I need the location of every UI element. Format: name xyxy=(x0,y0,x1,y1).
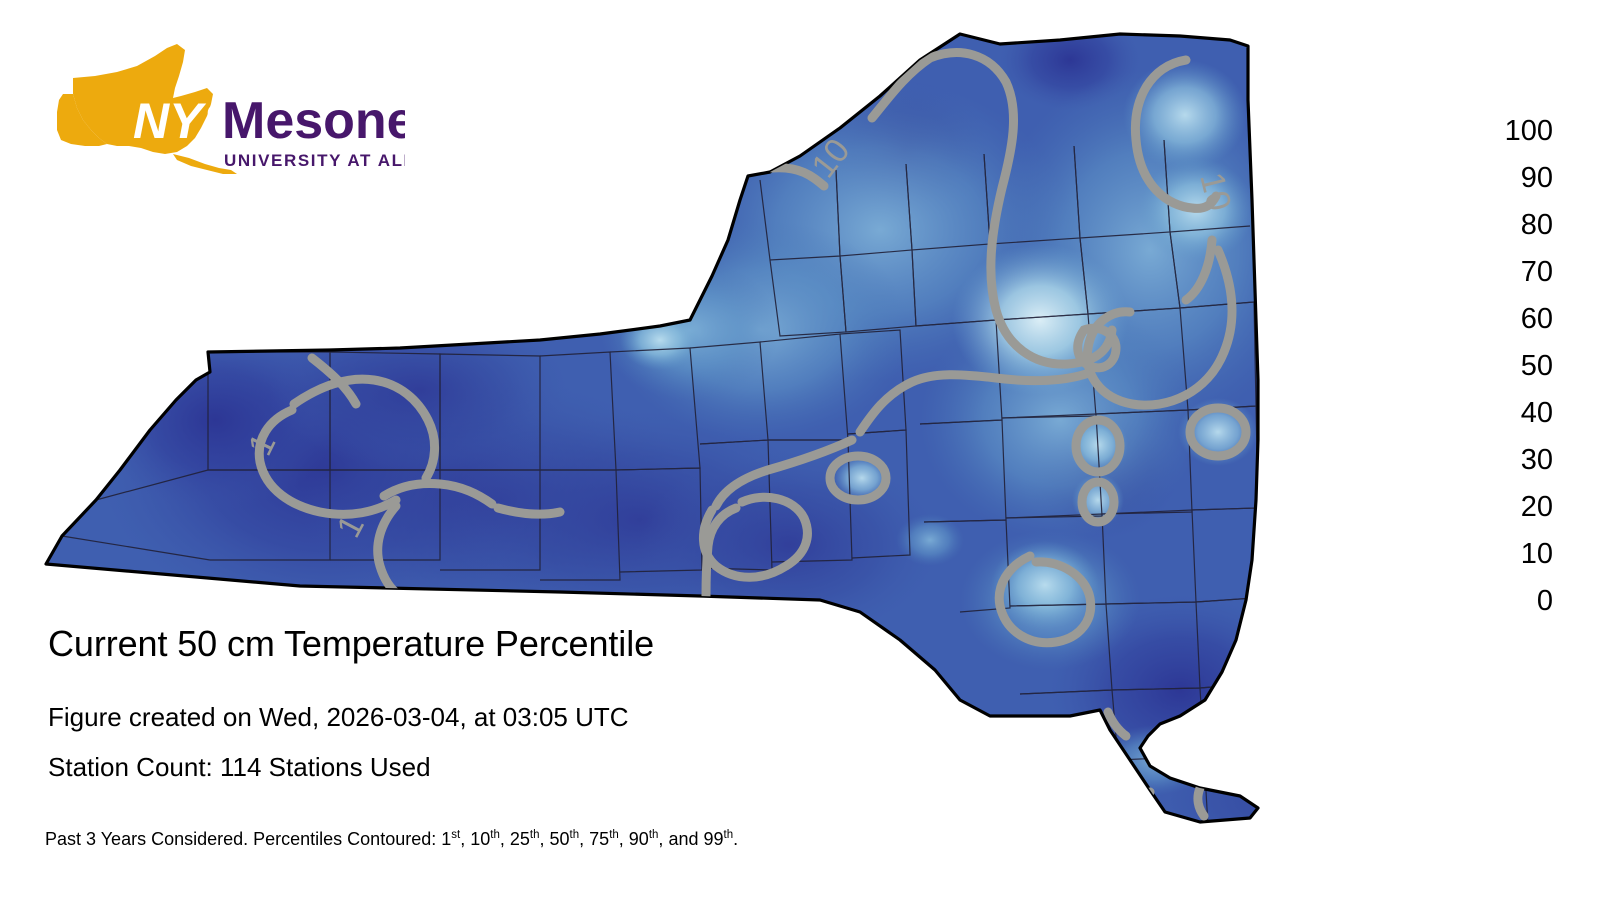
colorbar-tick-60: 60 xyxy=(1435,305,1553,334)
colorbar-tick-0: 0 xyxy=(1435,587,1553,616)
contour-footnote: Past 3 Years Considered. Percentiles Con… xyxy=(45,829,738,850)
colorbar-tick-10: 10 xyxy=(1435,540,1553,569)
colorbar-container: 100 90 80 70 60 50 40 30 20 10 0 xyxy=(1335,131,1575,609)
colorbar-tick-100: 100 xyxy=(1435,117,1553,146)
page-title: Current 50 cm Temperature Percentile xyxy=(48,623,654,665)
colorbar-tick-70: 70 xyxy=(1435,258,1553,287)
logo-nys-text: NYS xyxy=(133,93,236,149)
percentile-colorbar xyxy=(1335,131,1423,603)
figure-created-timestamp: Figure created on Wed, 2026-03-04, at 03… xyxy=(48,702,629,733)
colorbar-tick-40: 40 xyxy=(1435,399,1553,428)
colorbar-tick-80: 80 xyxy=(1435,211,1553,240)
logo-mesonet-text: Mesonet xyxy=(222,92,405,150)
colorbar-tick-30: 30 xyxy=(1435,446,1553,475)
colorbar-tick-labels: 100 90 80 70 60 50 40 30 20 10 0 xyxy=(1435,131,1565,603)
colorbar-tick-20: 20 xyxy=(1435,493,1553,522)
station-count-label: Station Count: 114 Stations Used xyxy=(48,752,431,783)
colorbar-tick-90: 90 xyxy=(1435,164,1553,193)
logo-tagline-text: UNIVERSITY AT ALBANY xyxy=(224,151,405,170)
nys-mesonet-logo: NYS Mesonet UNIVERSITY AT ALBANY xyxy=(55,42,405,177)
colorbar-tick-50: 50 xyxy=(1435,352,1553,381)
